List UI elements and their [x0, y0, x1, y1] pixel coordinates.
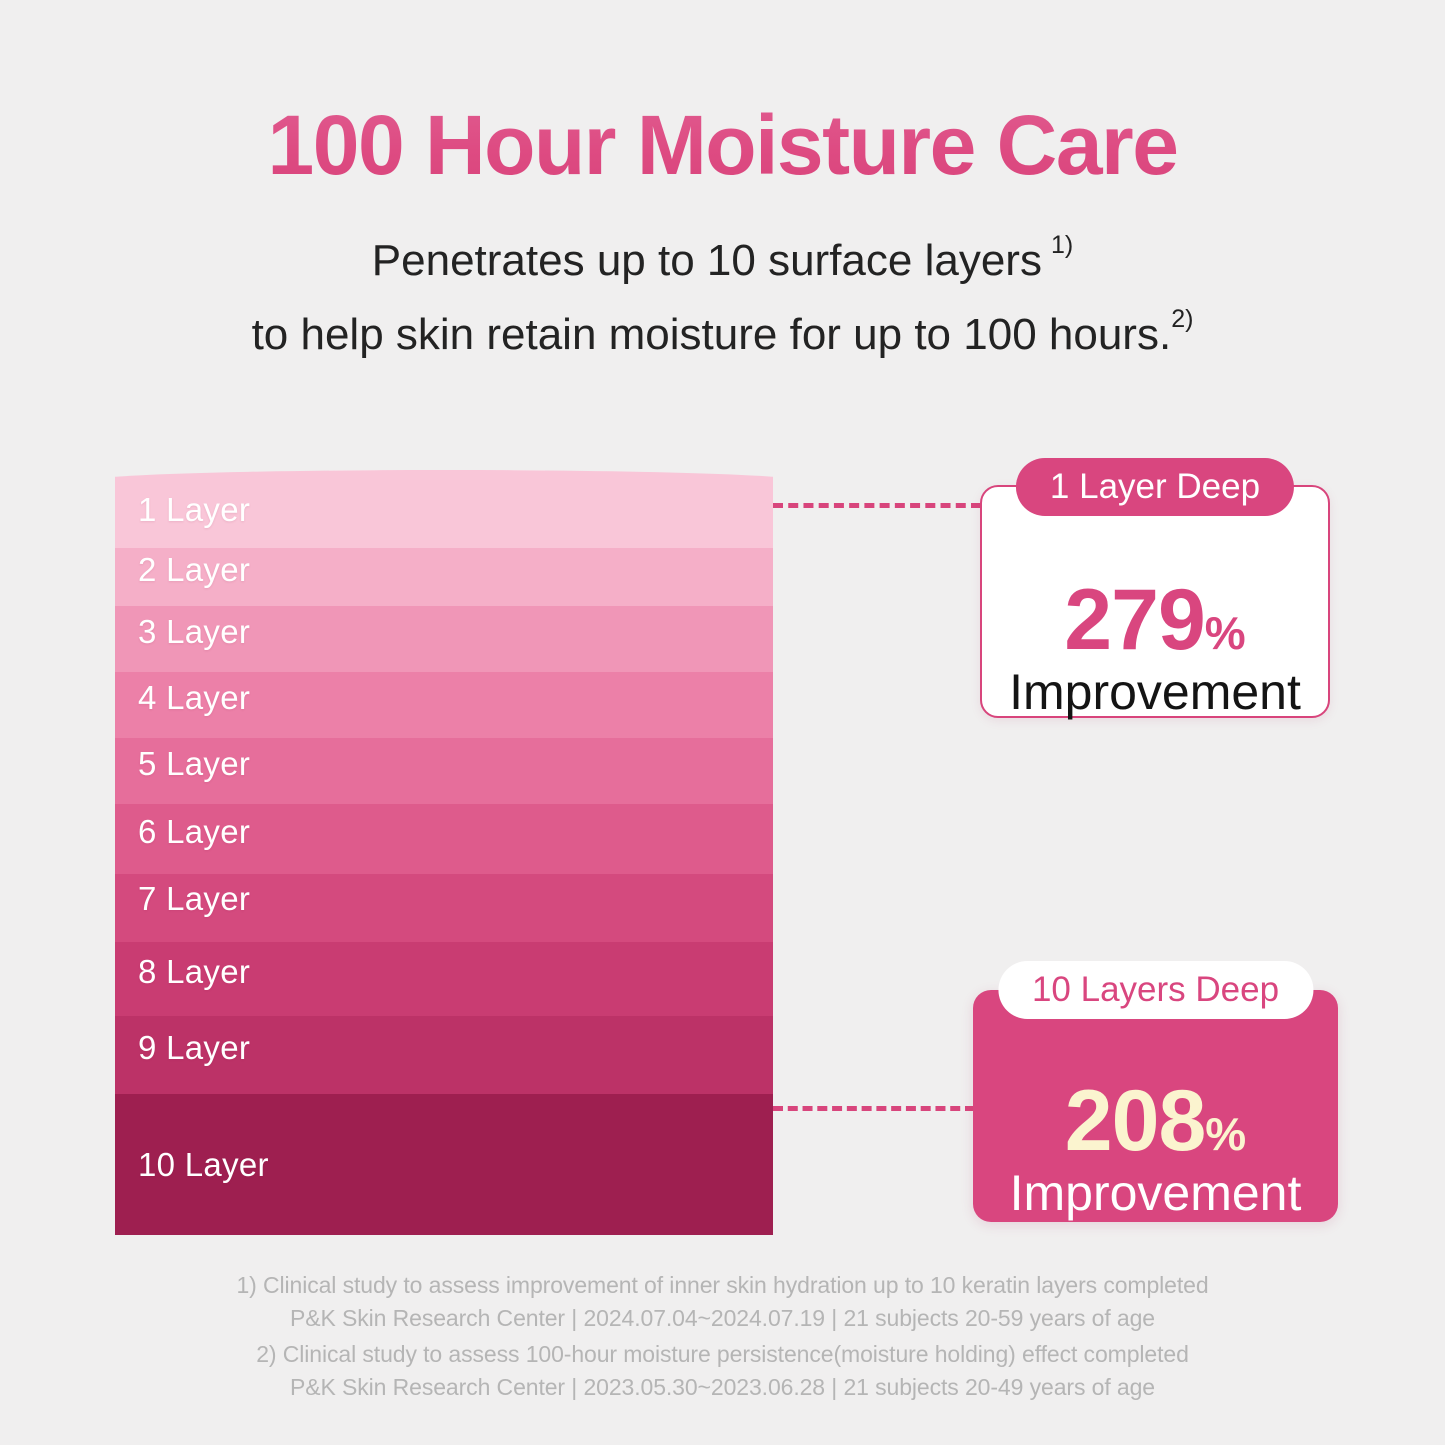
- skin-layer-label: 6 Layer: [138, 813, 250, 851]
- skin-layer-label: 2 Layer: [138, 551, 250, 589]
- callout-value-1-layer: 279: [1064, 572, 1205, 668]
- subtitle-line-2: to help skin retain moisture for up to 1…: [0, 310, 1445, 360]
- footnote-line-1: 1) Clinical study to assess improvement …: [0, 1272, 1445, 1299]
- callout-badge-1-layer: 1 Layer Deep: [1016, 458, 1294, 516]
- callout-value-10-layers: 208: [1065, 1073, 1206, 1169]
- infographic-root: 100 Hour Moisture Care Penetrates up to …: [0, 0, 1445, 1445]
- callout-stat-1-layer: 279%: [982, 577, 1328, 663]
- callout-card-10-layers[interactable]: 10 Layers Deep 208% Improvement: [973, 990, 1338, 1222]
- skin-layer-band: 1 Layer: [115, 470, 773, 548]
- callout-percent-10-layers: %: [1205, 1108, 1246, 1160]
- skin-layer-band: 10 Layer: [115, 1078, 773, 1235]
- footnote-line-4: P&K Skin Research Center | 2023.05.30~20…: [0, 1374, 1445, 1401]
- skin-layer-label: 8 Layer: [138, 953, 250, 991]
- page-title: 100 Hour Moisture Care: [0, 97, 1445, 194]
- skin-layer-label: 4 Layer: [138, 679, 250, 717]
- subtitle-line-1: Penetrates up to 10 surface layers1): [0, 236, 1445, 286]
- connector-line-top: [773, 503, 981, 508]
- footnote-line-3: 2) Clinical study to assess 100-hour moi…: [0, 1341, 1445, 1368]
- callout-card-1-layer[interactable]: 1 Layer Deep 279% Improvement: [980, 485, 1330, 718]
- skin-layer-label: 10 Layer: [138, 1146, 269, 1184]
- callout-caption-10-layers: Improvement: [973, 1168, 1338, 1218]
- footnote-marker-2: 2): [1171, 305, 1193, 333]
- callout-percent-1-layer: %: [1205, 607, 1246, 659]
- footnote-line-2: P&K Skin Research Center | 2024.07.04~20…: [0, 1305, 1445, 1332]
- skin-layer-label: 5 Layer: [138, 745, 250, 783]
- skin-layer-label: 1 Layer: [138, 491, 250, 529]
- callout-badge-10-layers: 10 Layers Deep: [998, 961, 1313, 1019]
- connector-line-bottom: [773, 1106, 975, 1111]
- skin-layer-label: 3 Layer: [138, 613, 250, 651]
- subtitle-line-1-text: Penetrates up to 10 surface layers: [372, 236, 1042, 285]
- footnote-marker-1: 1): [1051, 231, 1073, 259]
- subtitle-line-2-text: to help skin retain moisture for up to 1…: [252, 310, 1172, 359]
- callout-stat-10-layers: 208%: [973, 1078, 1338, 1164]
- callout-caption-1-layer: Improvement: [982, 667, 1328, 717]
- skin-layer-label: 7 Layer: [138, 880, 250, 918]
- skin-layer-label: 9 Layer: [138, 1029, 250, 1067]
- skin-layer-diagram: 1 Layer2 Layer3 Layer4 Layer5 Layer6 Lay…: [115, 470, 773, 1235]
